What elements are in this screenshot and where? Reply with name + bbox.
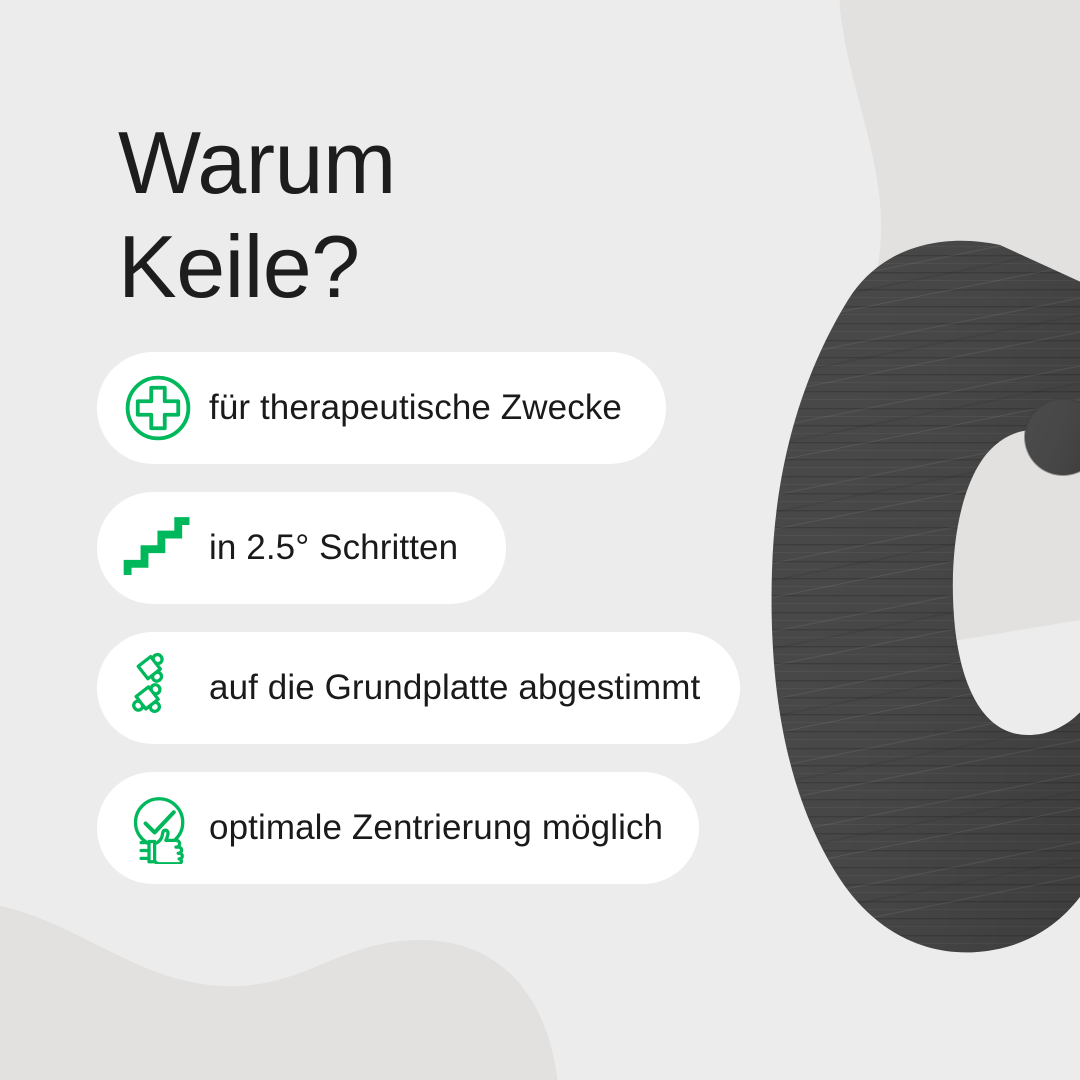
stairs-steps-icon bbox=[119, 509, 197, 587]
feature-pill-centering[interactable]: optimale Zentrierung möglich bbox=[97, 772, 699, 884]
feature-label: auf die Grundplatte abgestimmt bbox=[209, 668, 700, 708]
check-thumbs-up-icon bbox=[119, 789, 197, 867]
promo-graphic: Warum Keile? für therapeutische Zwecke i… bbox=[0, 0, 1080, 1080]
feature-pill-therapeutic[interactable]: für therapeutische Zwecke bbox=[97, 352, 666, 464]
page-title: Warum Keile? bbox=[118, 111, 738, 319]
blob-top-right bbox=[800, 0, 1080, 640]
medical-cross-circle-icon bbox=[119, 369, 197, 447]
feature-label: für therapeutische Zwecke bbox=[209, 388, 622, 428]
feature-label: optimale Zentrierung möglich bbox=[209, 808, 663, 848]
feature-pill-baseplate[interactable]: auf die Grundplatte abgestimmt bbox=[97, 632, 740, 744]
blob-bottom-left bbox=[0, 900, 560, 1080]
feature-list: für therapeutische Zwecke in 2.5° Schrit… bbox=[97, 352, 740, 884]
feature-pill-steps[interactable]: in 2.5° Schritten bbox=[97, 492, 506, 604]
feature-label: in 2.5° Schritten bbox=[209, 528, 458, 568]
puzzle-pieces-icon bbox=[119, 649, 197, 727]
